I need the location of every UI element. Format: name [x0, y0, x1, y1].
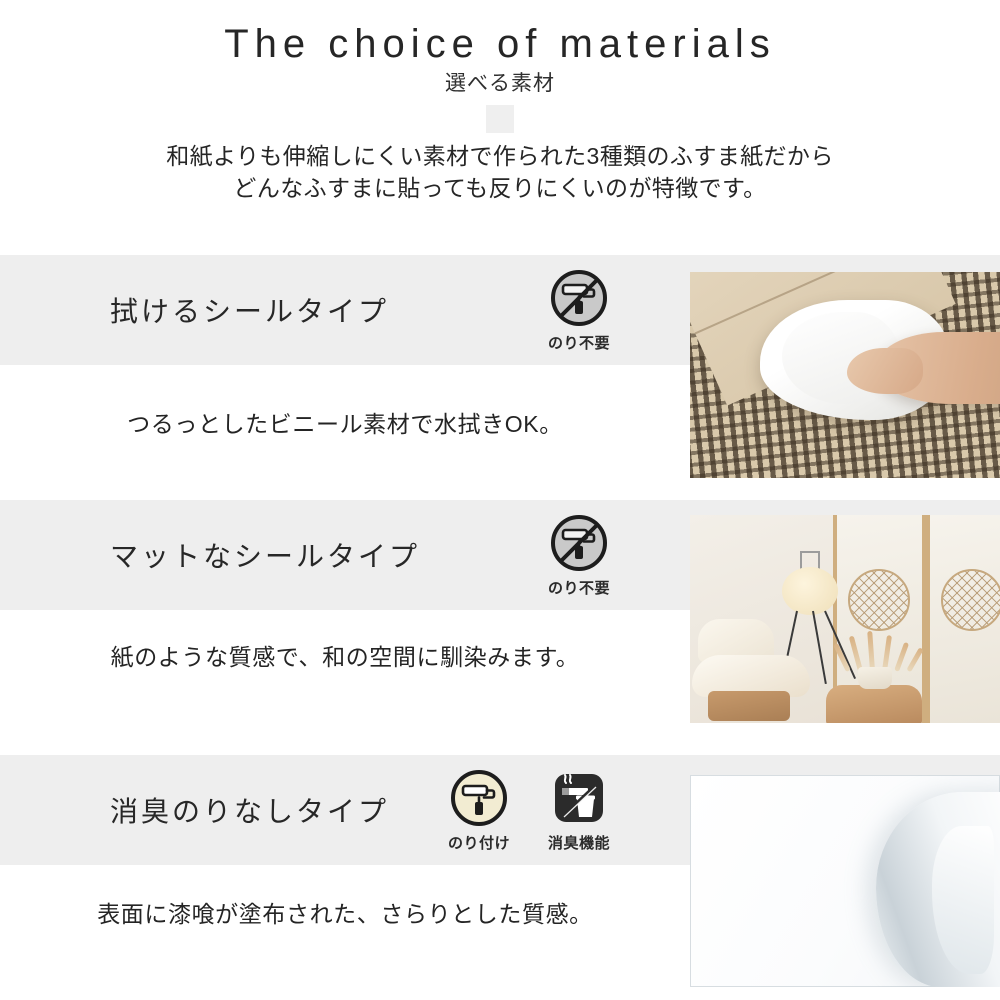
- feature-3-title: 消臭のりなしタイプ: [110, 755, 389, 865]
- no-glue-roller-icon: [540, 513, 618, 575]
- deodorize-cigarette-trash-icon: [540, 768, 618, 830]
- glue-roller-icon: [440, 768, 518, 830]
- feature-3-badges: のり付け 消臭機能: [440, 755, 618, 865]
- white-paper-curl-photo: [690, 775, 1000, 987]
- product-material-page: The choice of materials 選べる素材 和紙よりも伸縮しにく…: [0, 0, 1000, 1000]
- page-header: The choice of materials 選べる素材 和紙よりも伸縮しにく…: [0, 0, 1000, 240]
- accent-square-decoration: [486, 105, 514, 133]
- badge-label-deodorize: 消臭機能: [540, 832, 618, 853]
- badge-no-glue-1: のり不要: [540, 268, 618, 353]
- badge-glue-applied: のり付け: [440, 768, 518, 853]
- badge-label-no-glue-1: のり不要: [540, 332, 618, 353]
- chair-base: [708, 691, 790, 721]
- lead-paragraph: 和紙よりも伸縮しにくい素材で作られた3種類のふすま紙だから どんなふすまに貼って…: [0, 140, 1000, 204]
- feature-1-title: 拭けるシールタイプ: [110, 255, 389, 365]
- plant-pot: [858, 667, 892, 689]
- japanese-interior-room-photo: [690, 515, 1000, 723]
- feature-block-2: マットなシールタイプ のり不要 紙のような質感で、和の空間に馴染みます。: [0, 500, 1000, 745]
- page-subtitle: 選べる素材: [0, 67, 1000, 97]
- badge-label-glue-applied: のり付け: [440, 832, 518, 853]
- pampas-grass: [840, 625, 920, 671]
- feature-2-badges: のり不要: [540, 500, 618, 610]
- feature-2-description: 紙のような質感で、和の空間に馴染みます。: [0, 638, 690, 672]
- towel-wiping-woven-mat-photo: [690, 272, 1000, 478]
- feature-block-3: 消臭のりなしタイプ のり付け: [0, 755, 1000, 1000]
- hand: [875, 332, 1000, 404]
- page-title: The choice of materials: [0, 22, 1000, 67]
- feature-1-description: つるっとしたビニール素材で水拭きOK。: [0, 405, 690, 439]
- paper-lantern-shade: [782, 567, 838, 615]
- lead-line-1: 和紙よりも伸縮しにくい素材で作られた3種類のふすま紙だから: [0, 140, 1000, 172]
- feature-2-title: マットなシールタイプ: [110, 500, 420, 610]
- badge-deodorize: 消臭機能: [540, 768, 618, 853]
- fusuma-lattice-circle: [941, 569, 1000, 631]
- feature-3-description: 表面に漆喰が塗布された、さらりとした質感。: [0, 895, 690, 929]
- lead-line-2: どんなふすまに貼っても反りにくいのが特徴です。: [0, 172, 1000, 204]
- badge-no-glue-2: のり不要: [540, 513, 618, 598]
- fusuma-lattice-circle: [848, 569, 910, 631]
- side-table: [826, 685, 922, 723]
- no-glue-roller-icon: [540, 268, 618, 330]
- feature-block-1: 拭けるシールタイプ のり不要 つるっとしたビニール素材で水拭きOK。: [0, 255, 1000, 500]
- badge-label-no-glue-2: のり不要: [540, 577, 618, 598]
- fusuma-panel-2: [926, 515, 1000, 723]
- feature-1-badges: のり不要: [540, 255, 618, 365]
